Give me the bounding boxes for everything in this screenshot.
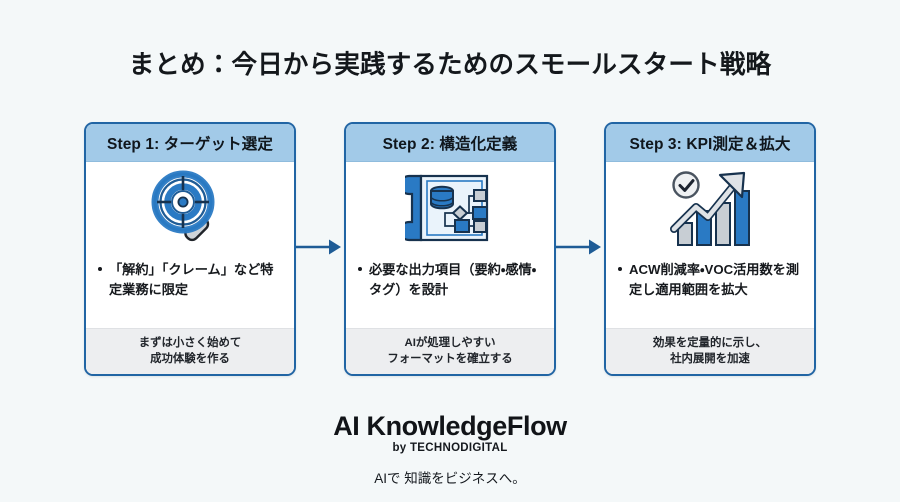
- brand-footer: AI KnowledgeFlow by TECHNODIGITAL AIで 知識…: [0, 412, 900, 487]
- step-card-1-footer-line2: 成功体験を作る: [94, 351, 286, 367]
- step-card-2-footer-line2: フォーマットを確立する: [354, 351, 546, 367]
- bullet-dot-icon: [358, 267, 362, 271]
- step-card-3-footer-line1: 効果を定量的に示し、: [614, 335, 806, 351]
- bullet-dot-icon: [98, 267, 102, 271]
- step-card-2-icon-area: [346, 162, 554, 254]
- step-card-2: Step 2: 構造化定義: [344, 122, 556, 376]
- connector-1: [296, 122, 344, 376]
- blueprint-schema-icon: [405, 168, 495, 253]
- step-card-3-footer-line2: 社内展開を加速: [614, 351, 806, 367]
- bullet-dot-icon: [618, 267, 622, 271]
- connector-2: [556, 122, 604, 376]
- brand-tagline: AIで 知識をビジネスへ。: [0, 467, 900, 487]
- step-card-2-footer: AIが処理しやすい フォーマットを確立する: [346, 328, 554, 374]
- step-card-3-body: ACW削減率・VOC活用数を測定し適用範囲を拡大: [606, 254, 814, 328]
- step-card-1: Step 1: ターゲット選定: [84, 122, 296, 376]
- step-card-3-icon-area: [606, 162, 814, 254]
- step-card-1-body: 「解約」「クレーム」など特定業務に限定: [86, 254, 294, 328]
- brand-name: AI KnowledgeFlow: [0, 412, 900, 441]
- step-card-3-header: Step 3: KPI測定＆拡大: [606, 124, 814, 162]
- arrow-right-icon: [296, 237, 344, 262]
- step-card-2-header: Step 2: 構造化定義: [346, 124, 554, 162]
- target-magnifier-icon: [147, 166, 233, 255]
- step-card-3-footer: 効果を定量的に示し、 社内展開を加速: [606, 328, 814, 374]
- step-card-1-header: Step 1: ターゲット選定: [86, 124, 294, 162]
- step-card-3: Step 3: KPI測定＆拡大: [604, 122, 816, 376]
- brand-byline: by TECHNODIGITAL: [0, 442, 900, 454]
- step-card-1-footer-line1: まずは小さく始めて: [94, 335, 286, 351]
- step-card-1-icon-area: [86, 162, 294, 254]
- steps-flow: Step 1: ターゲット選定: [84, 122, 816, 376]
- step-card-2-footer-line1: AIが処理しやすい: [354, 335, 546, 351]
- step-card-1-bullet-text: 「解約」「クレーム」など特定業務に限定: [109, 260, 282, 299]
- step-card-1-footer: まずは小さく始めて 成功体験を作る: [86, 328, 294, 374]
- page-title: まとめ：今日から実践するためのスモールスタート戦略: [0, 44, 900, 81]
- step-card-2-body: 必要な出力項目（要約・感情・タグ）を設計: [346, 254, 554, 328]
- growth-chart-check-icon: [664, 167, 756, 254]
- step-card-2-bullet-text: 必要な出力項目（要約・感情・タグ）を設計: [369, 260, 542, 299]
- arrow-right-icon: [556, 237, 604, 262]
- step-card-3-bullet-text: ACW削減率・VOC活用数を測定し適用範囲を拡大: [629, 260, 802, 299]
